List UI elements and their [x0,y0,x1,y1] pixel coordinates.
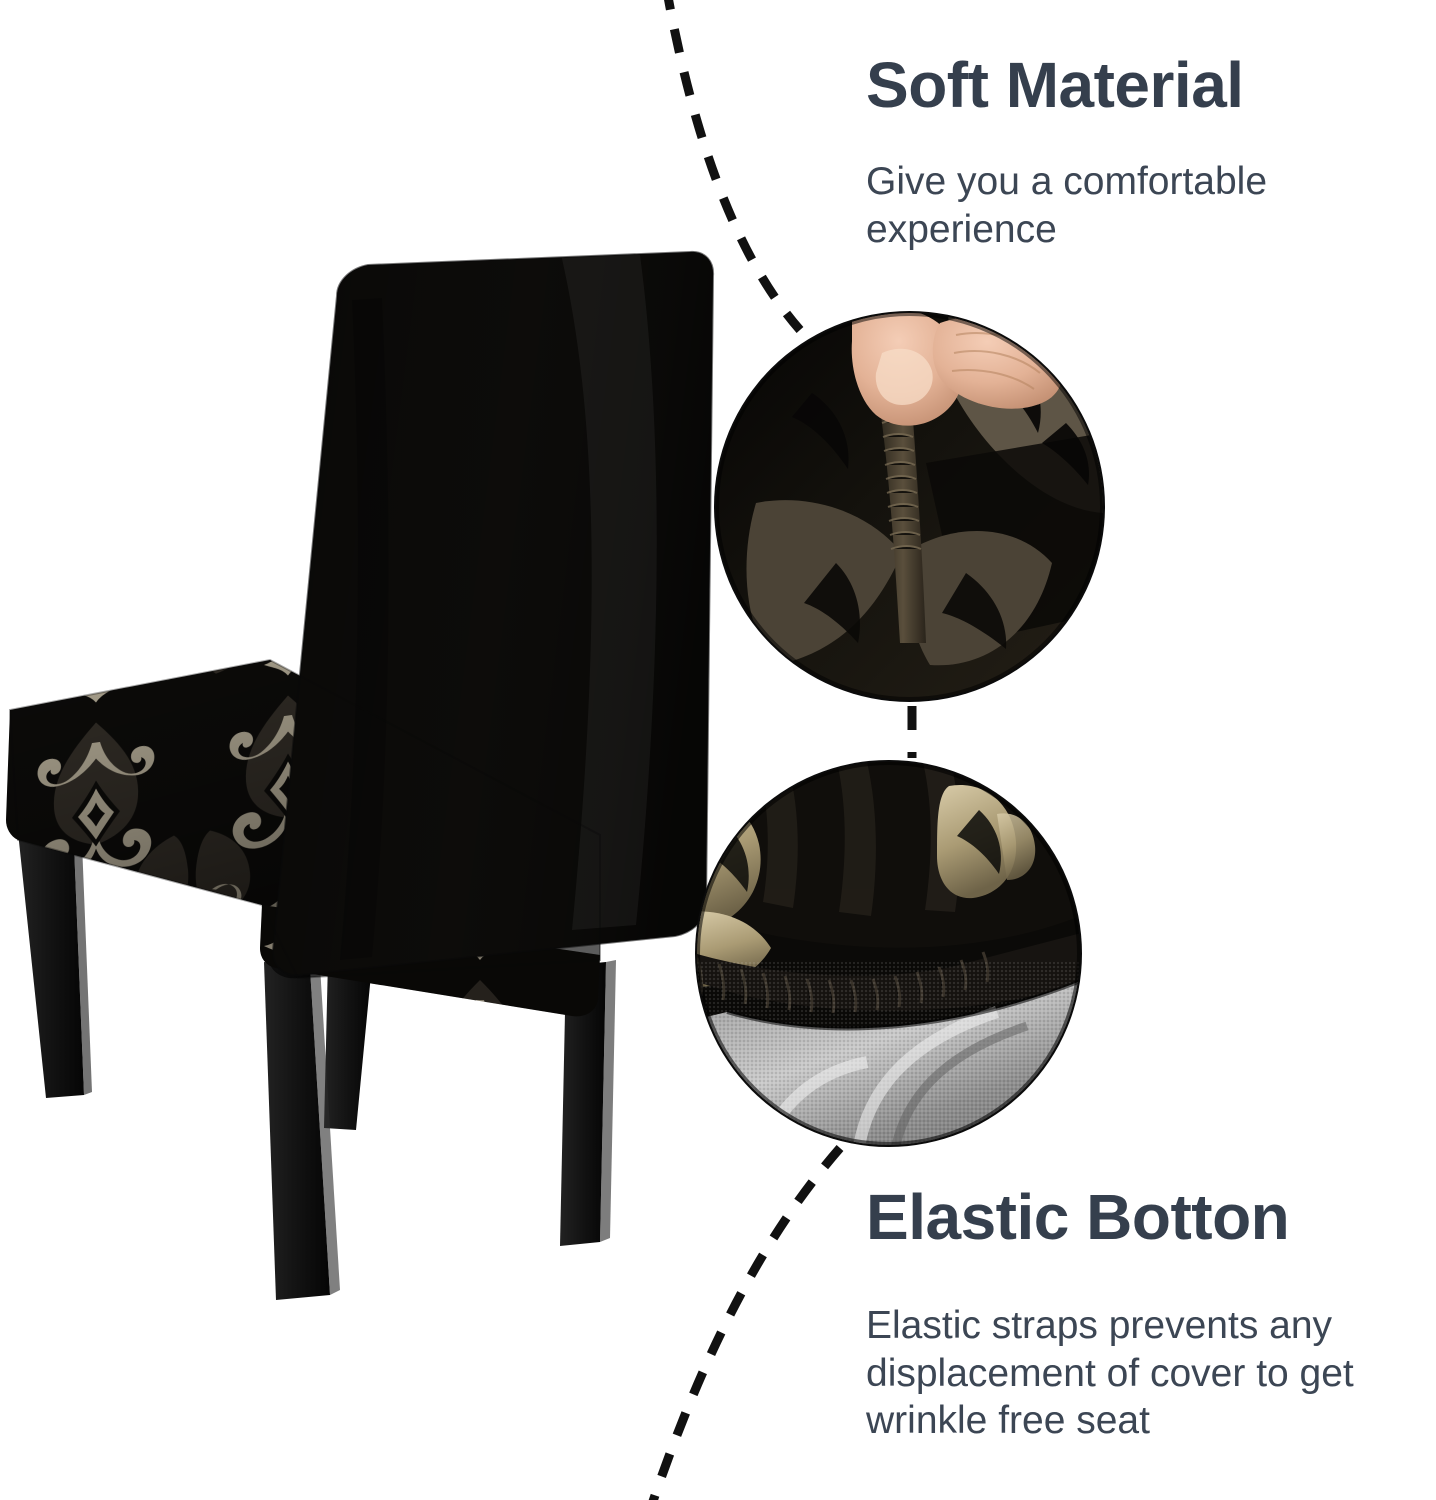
elastic-bottom-heading: Elastic Botton [866,1184,1289,1251]
soft-material-heading: Soft Material [866,52,1244,119]
infographic-canvas: Soft Material Give you a comfortable exp… [0,0,1436,1500]
top-curve-dashed [666,0,800,330]
elastic-bottom-photo [697,762,1080,1145]
callout-photo-soft-material [716,313,1103,700]
soft-material-photo [716,313,1103,700]
soft-material-description: Give you a comfortable experience [866,158,1436,253]
callout-photo-elastic-bottom [697,762,1080,1145]
bottom-curve-dashed [648,1148,840,1500]
elastic-bottom-description: Elastic straps prevents any displacement… [866,1302,1436,1445]
